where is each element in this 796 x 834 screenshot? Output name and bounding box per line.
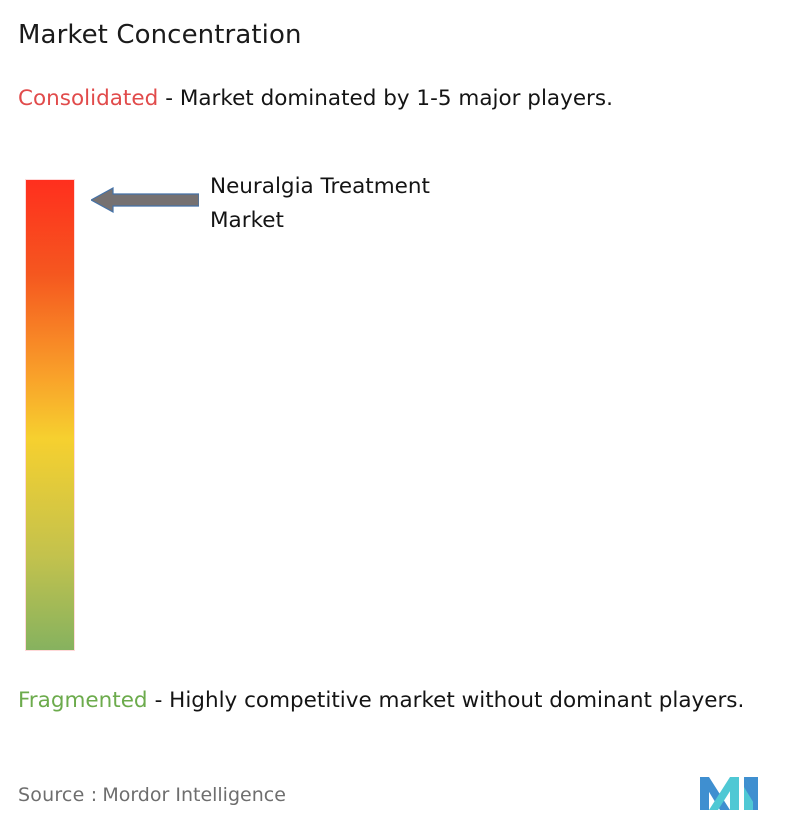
left-arrow-icon xyxy=(91,186,199,214)
page-title: Market Concentration xyxy=(18,20,302,50)
chart-canvas: Market Concentration Consolidated- Marke… xyxy=(0,0,796,834)
caption-consolidated: Consolidated- Market dominated by 1-5 ma… xyxy=(18,84,774,113)
caption-keyword-fragmented: Fragmented xyxy=(18,688,148,713)
annotation-label: Neuralgia Treatment Market xyxy=(210,170,590,238)
annotation-label-line2: Market xyxy=(210,204,590,238)
mordor-intelligence-logo-icon xyxy=(700,772,758,812)
source-attribution: Source :Mordor Intelligence xyxy=(18,784,286,806)
caption-text-consolidated: - Market dominated by 1-5 major players. xyxy=(165,86,613,111)
concentration-gradient-bar xyxy=(26,180,74,650)
source-value: Mordor Intelligence xyxy=(102,784,286,806)
caption-text-fragmented: - Highly competitive market without domi… xyxy=(155,688,745,713)
caption-keyword-consolidated: Consolidated xyxy=(18,86,158,111)
annotation-label-line1: Neuralgia Treatment xyxy=(210,170,590,204)
caption-fragmented: Fragmented- Highly competitive market wi… xyxy=(18,686,788,715)
source-label: Source : xyxy=(18,784,97,806)
